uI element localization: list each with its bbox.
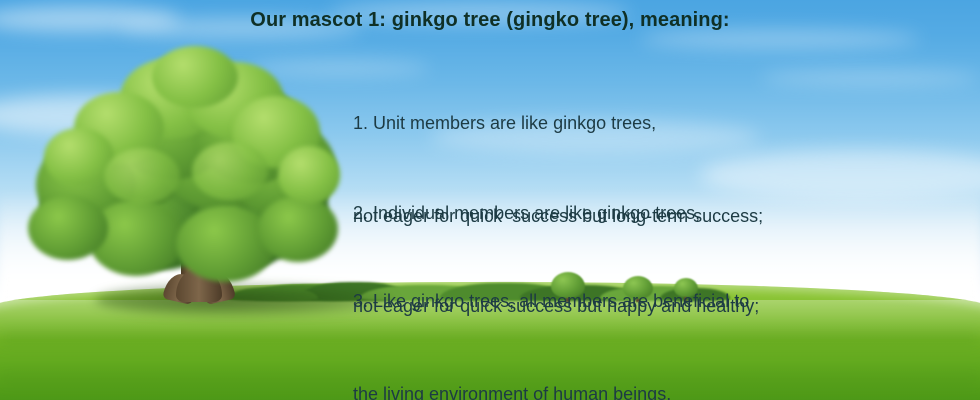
mascot-banner: Our mascot 1: ginkgo tree (gingko tree),…: [0, 0, 980, 400]
tree-shadow: [95, 283, 395, 317]
paragraph-3-line-2: the living environment of human beings.: [353, 379, 749, 400]
paragraph-3-line-1: 3. Like ginkgo trees, all members are be…: [353, 286, 749, 317]
ginkgo-tree: [0, 0, 360, 320]
paragraph-3: 3. Like ginkgo trees, all members are be…: [353, 224, 749, 400]
paragraph-1-line-1: 1. Unit members are like ginkgo trees,: [353, 108, 763, 139]
banner-title: Our mascot 1: ginkgo tree (gingko tree),…: [0, 9, 980, 32]
cloud-icon: [760, 70, 980, 86]
